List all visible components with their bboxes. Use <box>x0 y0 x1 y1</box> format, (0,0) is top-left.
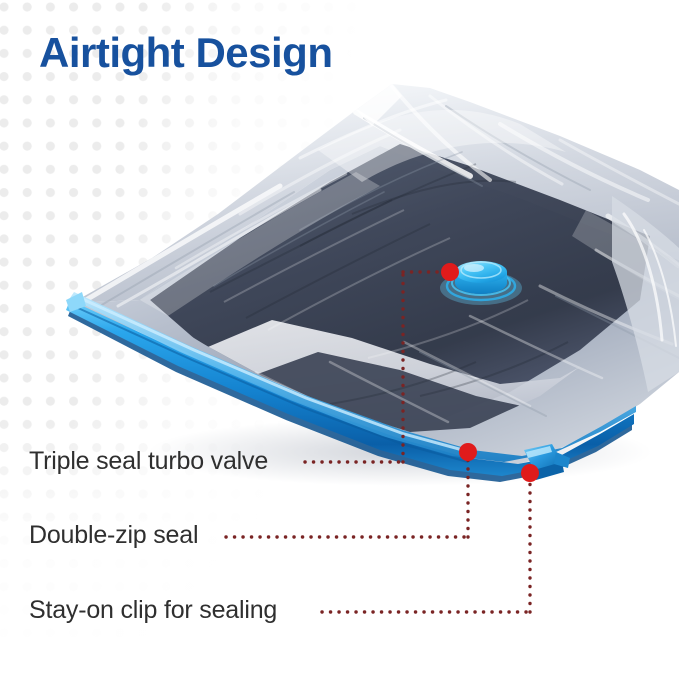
page-title: Airtight Design <box>39 30 333 76</box>
infographic-root: Airtight Design Triple seal turbo valve … <box>0 0 679 675</box>
callout-label-double-zip-seal: Double-zip seal <box>29 521 198 550</box>
bag-body <box>72 84 679 470</box>
product-image <box>0 0 679 675</box>
callout-label-stay-on-clip-for-sealing: Stay-on clip for sealing <box>29 596 277 625</box>
callout-label-triple-seal-turbo-valve: Triple seal turbo valve <box>29 447 268 476</box>
vacuum-bag-illustration <box>0 0 679 675</box>
